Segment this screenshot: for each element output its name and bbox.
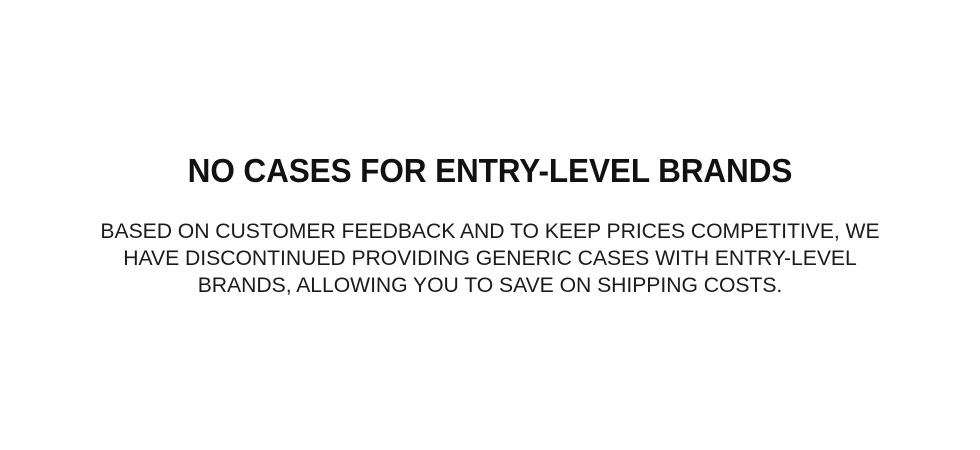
promo-body-text: BASED ON CUSTOMER FEEDBACK AND TO KEEP P… — [96, 191, 884, 299]
promo-banner: NO CASES FOR ENTRY-LEVEL BRANDS BASED ON… — [0, 0, 980, 450]
promo-heading: NO CASES FOR ENTRY-LEVEL BRANDS — [98, 0, 881, 191]
promo-content: NO CASES FOR ENTRY-LEVEL BRANDS BASED ON… — [80, 0, 900, 299]
